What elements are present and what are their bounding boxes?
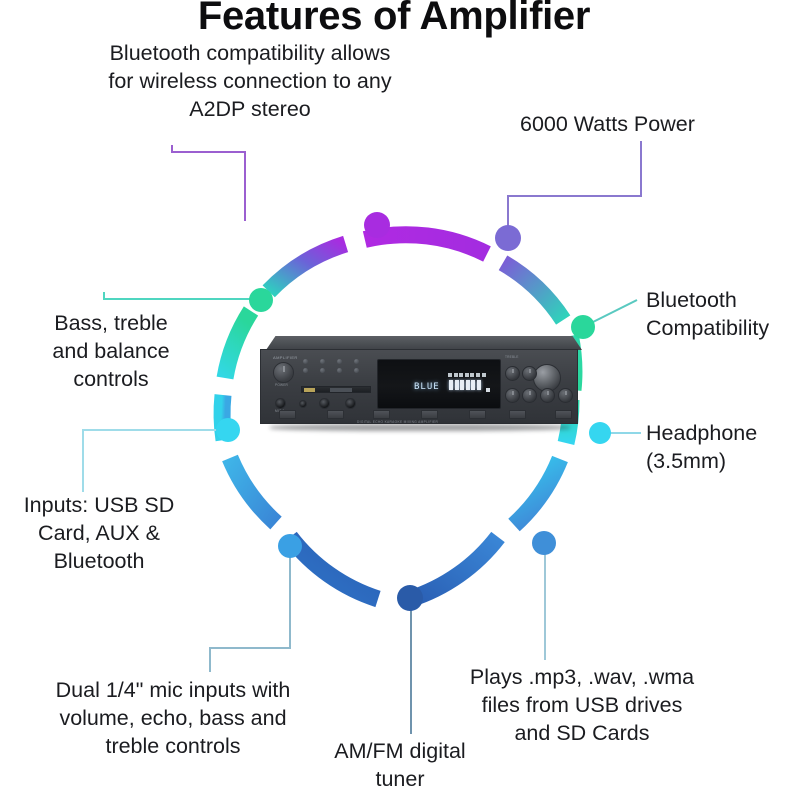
- callout-inputs-usb-sd: Inputs: USB SD Card, AUX & Bluetooth: [0, 492, 204, 576]
- display-segment-bars: [449, 380, 481, 390]
- arc-top: [365, 235, 487, 254]
- arc-left-lower: [230, 458, 276, 523]
- callout-bluetooth-compatibility: Bluetooth Compatibility: [646, 287, 788, 343]
- callout-mic-inputs: Dual 1/4" mic inputs with volume, echo, …: [8, 677, 338, 761]
- leader-mic: [210, 549, 290, 672]
- display-indicator-dot: [486, 388, 490, 392]
- power-knob-label: POWER: [275, 383, 288, 387]
- display-text: BLUE: [414, 382, 440, 392]
- push-button-7[interactable]: [555, 410, 572, 419]
- amplifier-display: BLUE: [377, 359, 501, 409]
- display-level-ticks: [448, 373, 486, 377]
- function-button-grid[interactable]: [303, 359, 367, 381]
- callout-watts-power: 6000 Watts Power: [520, 111, 788, 139]
- dot-amfm[interactable]: [397, 585, 423, 611]
- amplifier-top-panel: [266, 336, 582, 350]
- leader-inputs: [83, 430, 228, 492]
- push-button-5[interactable]: [469, 410, 486, 419]
- amplifier-brand-label: AMPLIFIER: [273, 355, 298, 360]
- arc-right-lower: [514, 459, 560, 525]
- right-section-title: TREBLE: [505, 355, 519, 359]
- dot-bluetooth-allows[interactable]: [364, 212, 390, 238]
- leader-watts: [508, 141, 641, 231]
- mic-volume-knob-1[interactable]: [540, 388, 555, 403]
- power-knob[interactable]: [273, 362, 294, 383]
- dot-mic[interactable]: [278, 534, 302, 558]
- balance-knob[interactable]: [522, 366, 537, 381]
- infographic-canvas: Features of Amplifier: [0, 0, 788, 797]
- leader-bt-compat: [589, 300, 637, 324]
- bass-knob[interactable]: [505, 388, 520, 403]
- mic-volume-knob-2[interactable]: [558, 388, 573, 403]
- arc-top-left: [269, 244, 346, 291]
- arc-top-right: [503, 263, 563, 320]
- dot-bass[interactable]: [249, 288, 273, 312]
- dot-plays[interactable]: [532, 531, 556, 555]
- usb-sd-card-slot[interactable]: [301, 386, 371, 393]
- callout-headphone-jack: Headphone (3.5mm): [646, 420, 788, 476]
- echo-knob[interactable]: [522, 388, 537, 403]
- callout-bluetooth-compatibility-allows: Bluetooth compatibility allows for wirel…: [50, 40, 450, 124]
- arc-bottom-left: [290, 537, 378, 599]
- arc-left-upper: [225, 311, 251, 378]
- amplifier-device: AMPLIFIER POWER MIC 1 BLUE: [256, 336, 582, 436]
- mic-jack-1[interactable]: [275, 398, 286, 409]
- push-button-6[interactable]: [509, 410, 526, 419]
- push-button-3[interactable]: [373, 410, 390, 419]
- leader-lines: [83, 141, 641, 734]
- callout-bass-treble-balance: Bass, treble and balance controls: [6, 310, 216, 394]
- leader-bass: [104, 292, 253, 299]
- push-button-4[interactable]: [421, 410, 438, 419]
- treble-knob[interactable]: [505, 366, 520, 381]
- push-button-1[interactable]: [279, 410, 296, 419]
- amplifier-shadow: [270, 424, 570, 431]
- dot-inputs[interactable]: [216, 418, 240, 442]
- amplifier-front-panel: AMPLIFIER POWER MIC 1 BLUE: [260, 349, 578, 424]
- mic-jack-2[interactable]: [319, 398, 330, 409]
- callout-plays-media-files: Plays .mp3, .wav, .wma files from USB dr…: [432, 664, 732, 748]
- dot-watts[interactable]: [495, 225, 521, 251]
- headphone-jack-3-5mm[interactable]: [299, 400, 307, 408]
- leader-bluetooth-allows: [172, 145, 245, 221]
- aux-jack[interactable]: [345, 398, 356, 409]
- push-button-2[interactable]: [327, 410, 344, 419]
- arc-bottom-right: [410, 537, 498, 599]
- dot-headphone[interactable]: [589, 422, 611, 444]
